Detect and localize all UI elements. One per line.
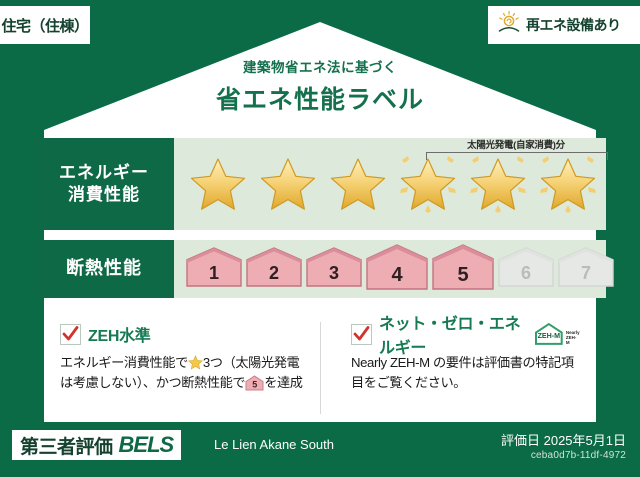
insulation-grade-4: 4 — [366, 244, 428, 295]
zeh-text-a: エネルギー消費性能で — [60, 355, 188, 370]
energy-star-icon — [324, 151, 392, 217]
bels-en-label: BELS — [119, 432, 174, 458]
energy-stars-area: 太陽光発電(自家消費)分 — [174, 138, 606, 230]
energy-star-icon — [184, 151, 252, 217]
energy-performance-heading: エネルギー 消費性能 — [34, 138, 174, 230]
building-type-tag: 住宅（住棟） — [0, 6, 90, 44]
zeh-text-d: を達成 — [264, 375, 302, 390]
energy-performance-row: エネルギー 消費性能 太陽光発電(自家消費)分 — [34, 138, 606, 230]
zeh-m-logo-icon: ZEH-M Nearly ZEH-M — [534, 322, 580, 346]
zeh-standard-column: ZEH水準 エネルギー消費性能で 3つ（太陽光発電 は考慮しない）、かつ断熱性能… — [60, 322, 320, 414]
insulation-performance-row: 断熱性能 1 2 3 4 5 — [34, 240, 606, 298]
insulation-grade-2: 2 — [246, 247, 302, 292]
zeh-text-b: 3つ（太陽光発電 — [203, 355, 299, 370]
solar-star-icon — [394, 151, 462, 217]
zeh-standard-title: ZEH水準 — [88, 322, 151, 346]
renewable-equipment-tag: 再エネ設備あり — [488, 6, 640, 44]
evaluation-id: ceba0d7b-11df-4972 — [531, 450, 626, 461]
criteria-columns: ZEH水準 エネルギー消費性能で 3つ（太陽光発電 は考慮しない）、かつ断熱性能… — [60, 322, 580, 414]
star-rating — [174, 138, 606, 230]
net-zero-energy-column: ネット・ゼロ・エネルギー ZEH-M Nearly ZEH-M Nearly Z… — [320, 322, 580, 414]
insulation-grade-6: 6 — [498, 247, 554, 292]
zeh-standard-header: ZEH水準 — [60, 322, 320, 346]
zeh-standard-checkbox[interactable] — [60, 324, 81, 345]
insulation-grade-5: 5 — [432, 244, 494, 295]
label-footer: 第三者評価 BELS Le Lien Akane South 評価日 2025年… — [0, 422, 640, 477]
net-zero-description: Nearly ZEH-M の要件は評価書の特記項目をご覧ください。 — [351, 353, 580, 394]
bels-jp-label: 第三者評価 — [20, 432, 113, 459]
insulation-grade-scale: 1 2 3 4 5 6 — [174, 240, 606, 298]
bels-badge: 第三者評価 BELS — [12, 430, 181, 460]
solar-sun-icon — [496, 10, 522, 41]
building-name: Le Lien Akane South — [214, 437, 334, 452]
energy-performance-label: 住宅（住棟） 再エネ設備あり 建築物省エネ法に基づく 省エネ性能ラベル — [0, 0, 640, 477]
energy-star-icon — [254, 151, 322, 217]
title-subtitle: 建築物省エネ法に基づく — [0, 56, 640, 76]
building-type-label: 住宅（住棟） — [1, 15, 88, 36]
net-zero-title: ネット・ゼロ・エネルギー — [379, 310, 524, 358]
energy-heading-line2: 消費性能 — [68, 184, 140, 206]
title-main: 省エネ性能ラベル — [0, 80, 640, 116]
net-zero-checkbox[interactable] — [351, 324, 372, 345]
svg-text:1: 1 — [209, 263, 219, 283]
energy-heading-line1: エネルギー — [59, 162, 149, 184]
svg-text:4: 4 — [391, 263, 403, 285]
svg-text:5: 5 — [457, 263, 468, 285]
svg-text:3: 3 — [329, 263, 339, 283]
solar-star-icon — [534, 151, 602, 217]
zeh-m-logo-subtext: Nearly ZEH-M — [566, 331, 580, 346]
insulation-grade-7: 7 — [558, 247, 614, 292]
zeh-text-c: は考慮しない）、かつ断熱性能で — [60, 375, 245, 390]
renewable-equipment-label: 再エネ設備あり — [526, 15, 621, 35]
inline-star-icon — [188, 355, 203, 370]
label-title-block: 建築物省エネ法に基づく 省エネ性能ラベル — [0, 56, 640, 116]
zeh-m-sub-line2: ZEH-M — [566, 335, 577, 345]
insulation-grade-3: 3 — [306, 247, 362, 292]
insulation-grades-area: 1 2 3 4 5 6 — [174, 240, 606, 298]
inline-grade-badge: 5 — [245, 375, 264, 391]
svg-text:2: 2 — [269, 263, 279, 283]
svg-text:5: 5 — [252, 380, 257, 390]
zeh-standard-description: エネルギー消費性能で 3つ（太陽光発電 は考慮しない）、かつ断熱性能で 5 を達… — [60, 353, 320, 394]
insulation-grade-1: 1 — [186, 247, 242, 292]
solar-star-icon — [464, 151, 532, 217]
svg-text:7: 7 — [581, 263, 591, 283]
net-zero-header: ネット・ゼロ・エネルギー ZEH-M Nearly ZEH-M — [351, 322, 580, 346]
evaluation-date: 評価日 2025年5月1日 — [501, 430, 626, 449]
svg-text:6: 6 — [521, 263, 531, 283]
insulation-performance-heading: 断熱性能 — [34, 240, 174, 298]
svg-text:ZEH-M: ZEH-M — [538, 332, 561, 340]
